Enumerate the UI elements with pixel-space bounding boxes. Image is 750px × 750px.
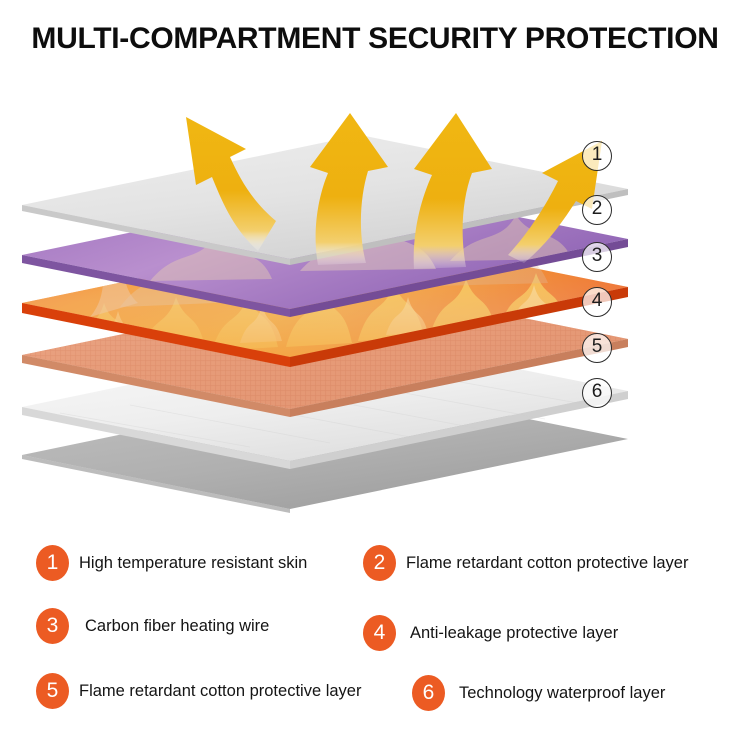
legend-label-3: Carbon fiber heating wire (85, 617, 269, 636)
legend-badge-2: 2 (363, 545, 396, 581)
legend-badge-3: 3 (36, 608, 69, 644)
legend-badge-6: 6 (412, 675, 445, 711)
index-marker-2: 2 (582, 195, 612, 225)
index-marker-3: 3 (582, 242, 612, 272)
legend-item-1[interactable]: 1 High temperature resistant skin (36, 545, 307, 581)
index-marker-4: 4 (582, 287, 612, 317)
legend-item-3[interactable]: 3 Carbon fiber heating wire (36, 608, 269, 644)
exploded-layer-diagram: 1 2 3 4 5 6 (0, 55, 750, 515)
legend-label-4: Anti-leakage protective layer (410, 624, 618, 643)
legend-label-1: High temperature resistant skin (79, 554, 307, 573)
legend-item-4[interactable]: 4 Anti-leakage protective layer (363, 615, 618, 651)
legend-item-5[interactable]: 5 Flame retardant cotton protective laye… (36, 673, 361, 709)
legend-label-6: Technology waterproof layer (459, 684, 665, 703)
legend-label-5: Flame retardant cotton protective layer (79, 682, 361, 701)
legend: 1 High temperature resistant skin 2 Flam… (0, 525, 750, 725)
legend-item-2[interactable]: 2 Flame retardant cotton protective laye… (363, 545, 688, 581)
legend-badge-4: 4 (363, 615, 396, 651)
index-marker-6: 6 (582, 378, 612, 408)
page-title: MULTI-COMPARTMENT SECURITY PROTECTION (0, 22, 750, 56)
legend-badge-5: 5 (36, 673, 69, 709)
index-marker-5: 5 (582, 333, 612, 363)
legend-item-6[interactable]: 6 Technology waterproof layer (412, 675, 665, 711)
index-marker-1: 1 (582, 141, 612, 171)
legend-label-2: Flame retardant cotton protective layer (406, 554, 688, 573)
legend-badge-1: 1 (36, 545, 69, 581)
